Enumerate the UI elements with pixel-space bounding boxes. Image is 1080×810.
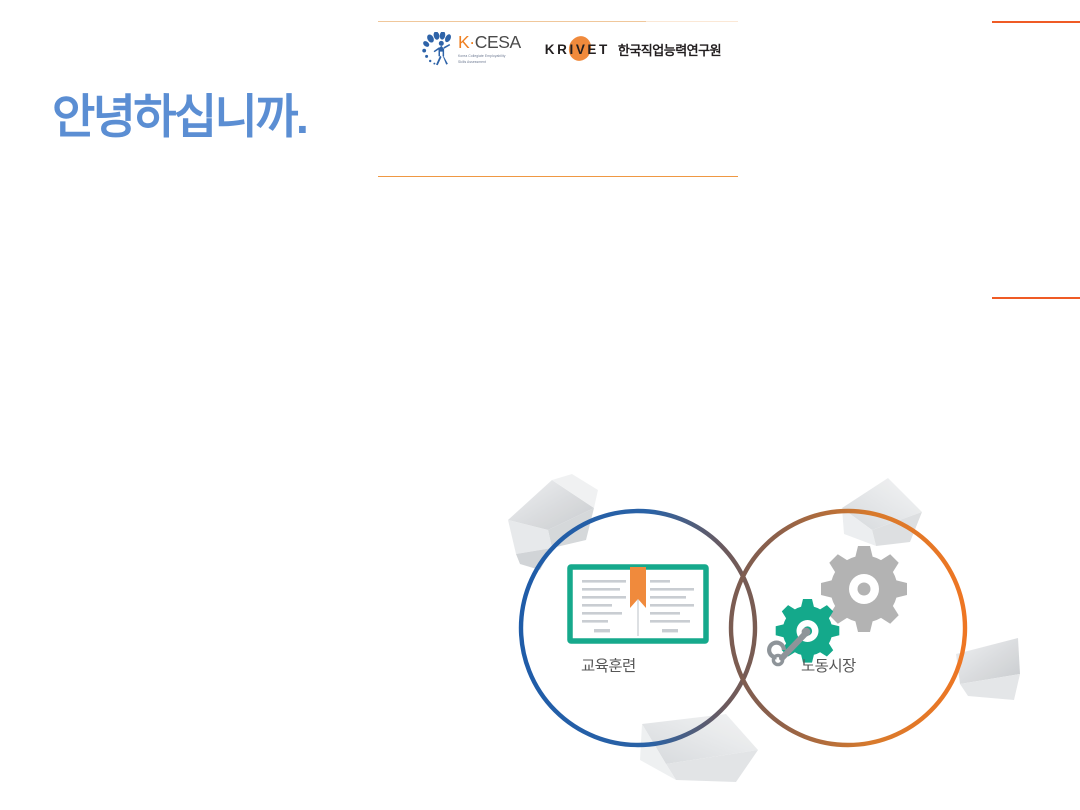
kcesa-letter-k: K [458, 32, 469, 52]
kcesa-wordmark: K·CESA Korea Collegiate Employability Sk… [458, 32, 521, 65]
kcesa-figure-mark-icon [422, 32, 460, 66]
kcesa-letters-cesa: CESA [475, 32, 521, 52]
logo-bar: K·CESA Korea Collegiate Employability Sk… [422, 31, 721, 67]
right-accent-rule-2 [992, 297, 1080, 299]
krivet-logo: KRIVET 한국직업능력연구원 [545, 37, 721, 61]
kcesa-logo: K·CESA Korea Collegiate Employability Sk… [422, 32, 521, 66]
two-circle-venn-diagram: 교육훈련 노동시장 [490, 468, 1020, 788]
top-center-divider-fade [646, 21, 738, 22]
venn-diagram-svg [490, 468, 1020, 788]
kcesa-wordmark-text: K·CESA [458, 34, 521, 52]
left-circle-label: 교육훈련 [581, 654, 636, 676]
open-book-icon [570, 567, 706, 641]
right-circle-label: 노동시장 [801, 654, 856, 676]
page-title: 안녕하십니까. [52, 92, 306, 141]
kcesa-tagline-line1: Korea Collegiate Employability [458, 54, 521, 59]
krivet-wordmark: KRIVET [545, 42, 610, 57]
top-right-accent-rule [992, 21, 1080, 23]
decor-polygon-bottom [640, 714, 758, 782]
krivet-korean-name: 한국직업능력연구원 [618, 40, 721, 59]
slide-root: K·CESA Korea Collegiate Employability Sk… [0, 0, 1080, 810]
kcesa-tagline-line2: Skills Assessment [458, 60, 521, 65]
mid-center-divider [378, 176, 738, 177]
right-circle-labor-market[interactable] [731, 511, 965, 745]
gears-wrench-icon [767, 546, 907, 665]
